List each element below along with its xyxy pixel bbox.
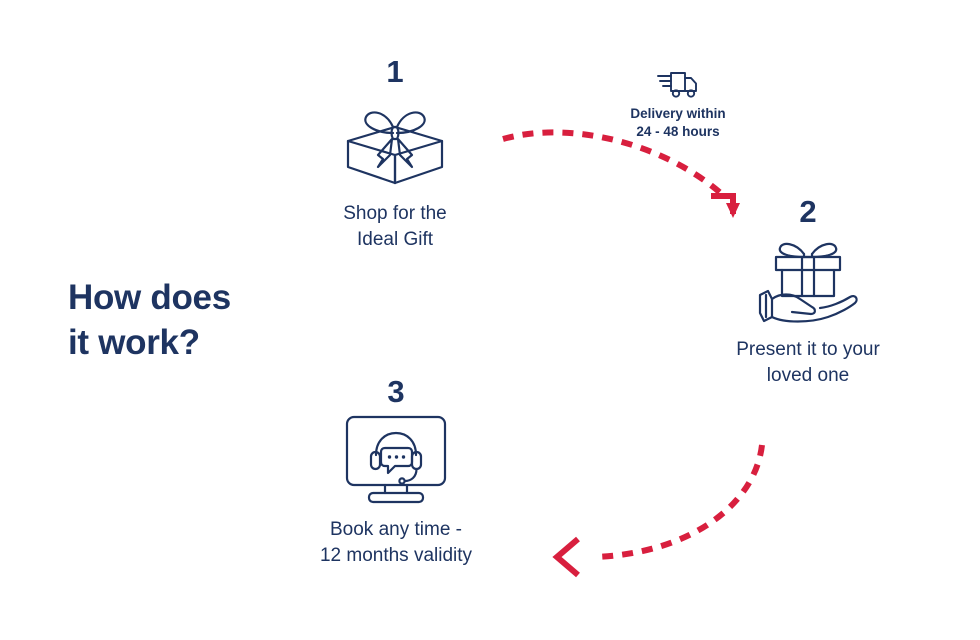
page-title: How does it work? <box>68 276 368 366</box>
step-1-label-line-1: Shop for the <box>295 201 495 227</box>
step-2-label-line-2: loved one <box>708 363 908 389</box>
step-3-label: Book any time - 12 months validity <box>296 517 496 568</box>
arrow-step2-to-step3 <box>557 445 762 575</box>
step-3-number: 3 <box>296 376 496 407</box>
step-1-label-line-2: Ideal Gift <box>295 227 495 253</box>
monitor-headset-support-icon <box>296 413 496 505</box>
delivery-note-line-1: Delivery within <box>604 105 752 123</box>
step-1-number: 1 <box>295 56 495 87</box>
hand-holding-gift-icon <box>708 233 908 325</box>
step-1-label: Shop for the Ideal Gift <box>295 201 495 252</box>
delivery-note-line-2: 24 - 48 hours <box>604 123 752 141</box>
step-3-label-line-1: Book any time - <box>296 517 496 543</box>
arrow-step1-to-step2 <box>503 132 740 218</box>
gift-box-with-bow-icon <box>295 93 495 189</box>
step-2-label-line-1: Present it to your <box>708 337 908 363</box>
page-title-line-1: How does <box>68 276 368 321</box>
delivery-truck-icon <box>604 70 752 100</box>
step-2: 2 <box>708 196 908 388</box>
step-2-number: 2 <box>708 196 908 227</box>
delivery-note: Delivery within 24 - 48 hours <box>604 70 752 141</box>
page-title-line-2: it work? <box>68 321 368 366</box>
step-3-label-line-2: 12 months validity <box>296 543 496 569</box>
step-1: 1 Shop for the <box>295 56 495 252</box>
step-3: 3 <box>296 376 496 568</box>
delivery-note-text: Delivery within 24 - 48 hours <box>604 105 752 141</box>
infographic-canvas: How does it work? Delivery within 24 - 4… <box>0 0 980 640</box>
step-2-label: Present it to your loved one <box>708 337 908 388</box>
